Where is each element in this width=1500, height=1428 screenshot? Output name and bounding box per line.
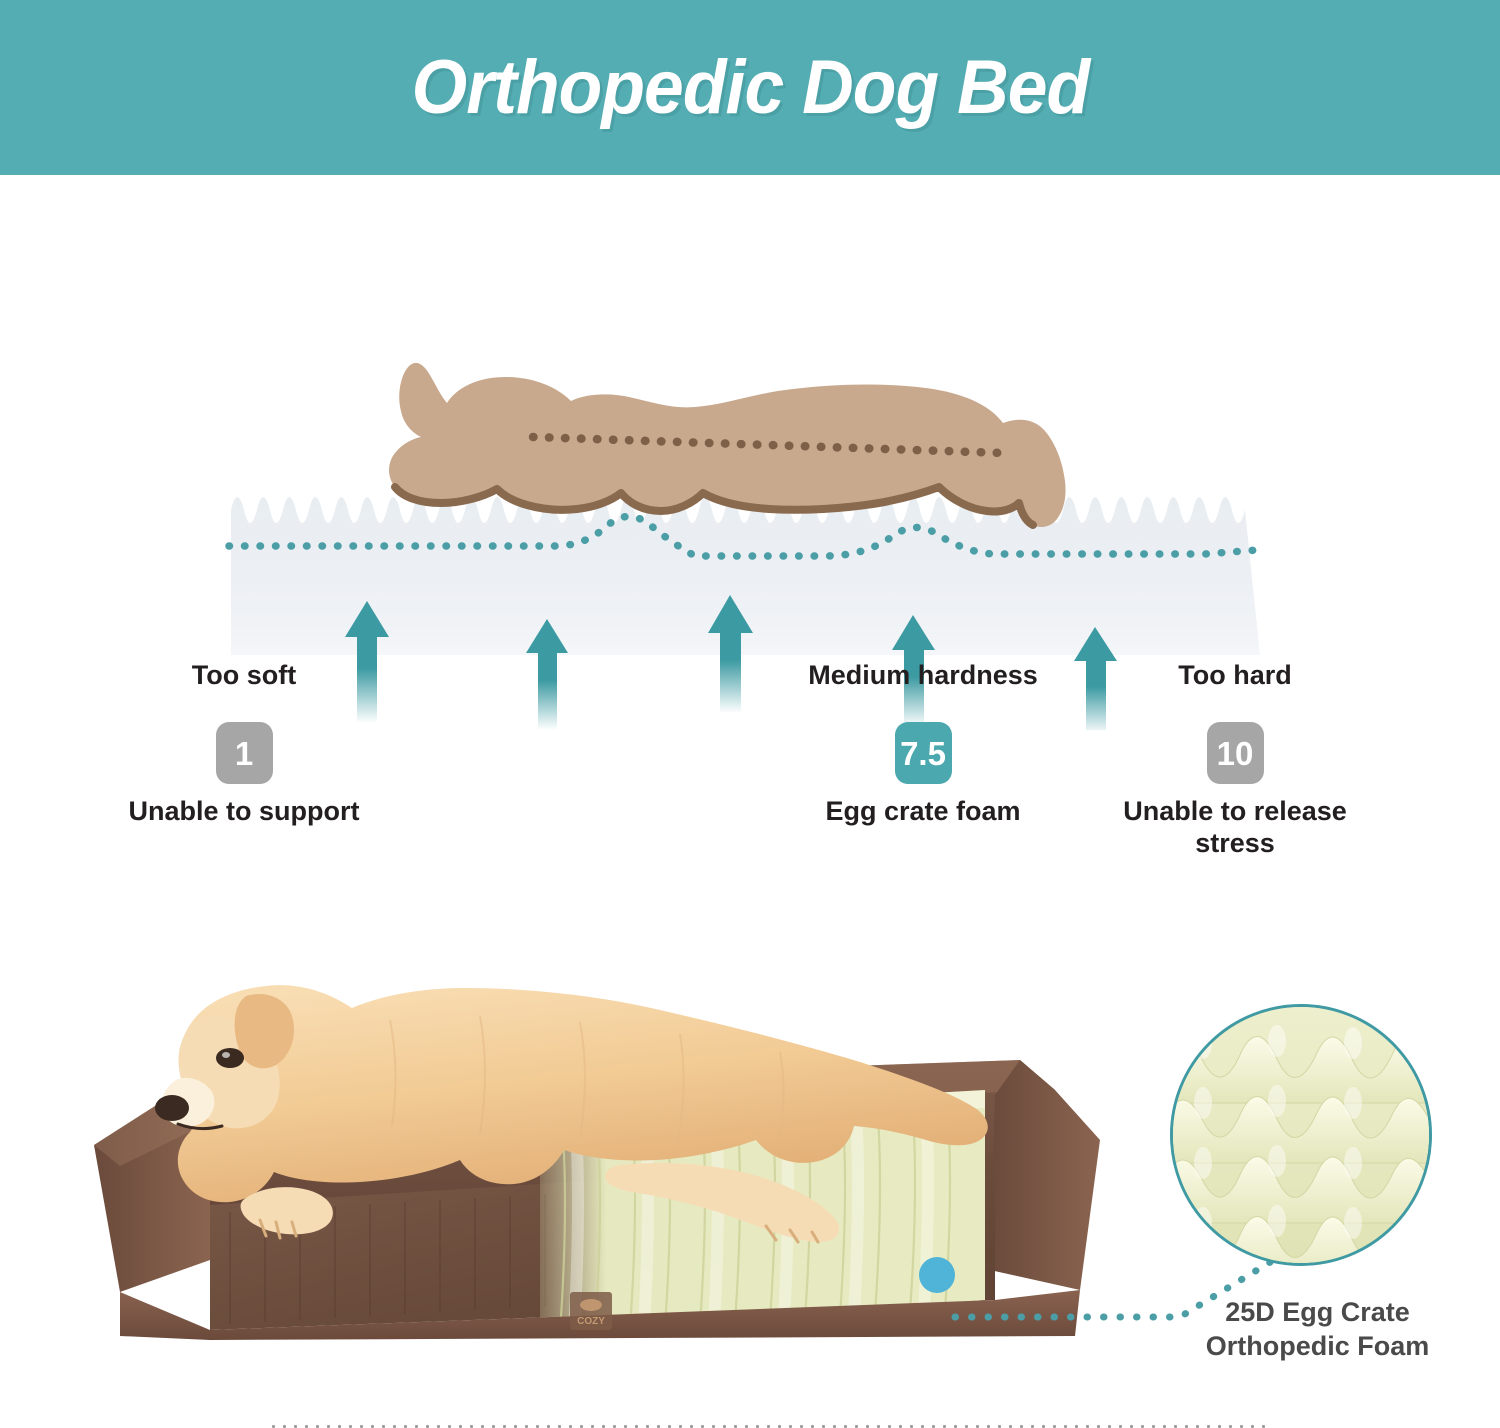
- brand-tag: COZY: [570, 1292, 612, 1330]
- svg-text:COZY: COZY: [577, 1316, 605, 1327]
- scale-badge-1[interactable]: 1: [216, 722, 273, 784]
- scale-stop-top-label: Too hard: [1085, 660, 1385, 722]
- scale-badge-10[interactable]: 10: [1207, 722, 1264, 784]
- scale-stop-too-soft[interactable]: Too soft 1 Unable to support: [94, 660, 394, 828]
- foam-caption-line-1: 25D Egg Crate: [1150, 1296, 1485, 1330]
- dog-silhouette: [373, 353, 1133, 553]
- scale-stop-too-hard[interactable]: Too hard 10 Unable to release stress: [1085, 660, 1385, 860]
- foam-caption: 25D Egg Crate Orthopedic Foam: [1150, 1296, 1485, 1364]
- scale-stop-bottom-label: Egg crate foam: [773, 796, 1073, 828]
- egg-crate-foam-circle: [1170, 1004, 1432, 1266]
- scale-badge-7-5[interactable]: 7.5: [895, 722, 952, 784]
- support-diagram-section: [0, 175, 1500, 645]
- scale-stop-bottom-label: Unable to release stress: [1085, 796, 1385, 860]
- scale-stop-bottom-label: Unable to support: [94, 796, 394, 828]
- diagram-stage: [225, 255, 1260, 645]
- hardness-scale: Too soft 1 Unable to support Medium hard…: [0, 660, 1500, 910]
- foam-caption-line-2: Orthopedic Foam: [1150, 1330, 1485, 1364]
- foam-callout: 25D Egg Crate Orthopedic Foam: [1150, 1000, 1500, 1392]
- page-title: Orthopedic Dog Bed: [411, 44, 1089, 131]
- header-banner: Orthopedic Dog Bed: [0, 0, 1500, 175]
- scale-stop-top-label: Too soft: [94, 660, 394, 722]
- scale-stop-medium-hardness[interactable]: Medium hardness 7.5 Egg crate foam: [773, 660, 1073, 828]
- scale-stop-top-label: Medium hardness: [773, 660, 1073, 722]
